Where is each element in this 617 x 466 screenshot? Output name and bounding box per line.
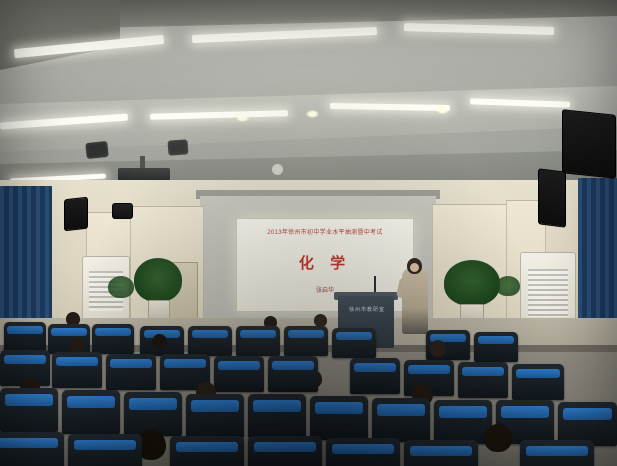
chair: [372, 398, 430, 442]
chair: [170, 436, 244, 466]
chair: [310, 396, 368, 440]
ac-grill: [528, 269, 568, 317]
chair: [458, 362, 508, 398]
ceiling-dome-light-icon: [272, 164, 283, 175]
downlight-icon: [306, 110, 319, 118]
speaker-icon: [85, 141, 109, 159]
speaker-icon: [112, 203, 133, 219]
chair: [512, 364, 564, 400]
presenter: [402, 268, 428, 334]
chair: [268, 356, 318, 392]
chair: [186, 394, 244, 438]
chair: [68, 434, 142, 466]
slide-subtitle: 张启华: [316, 285, 334, 294]
chair: [106, 354, 156, 390]
presenter-face: [410, 263, 419, 272]
chair: [0, 388, 58, 432]
potted-plant: [134, 258, 182, 302]
chair: [520, 440, 594, 466]
chair: [214, 356, 264, 392]
window-curtain: [578, 178, 617, 328]
chair: [92, 324, 134, 354]
chair: [236, 326, 280, 356]
chair: [62, 390, 120, 434]
chair: [350, 358, 400, 394]
audience-head: [430, 340, 446, 357]
chair: [248, 394, 306, 438]
chair: [284, 326, 328, 356]
speaker-icon: [538, 168, 566, 227]
speaker-icon: [562, 109, 616, 179]
window-curtain: [0, 186, 52, 326]
chair: [0, 432, 64, 466]
potted-plant: [496, 276, 520, 296]
chair: [52, 352, 102, 388]
lectern-label: 徐州市教研室: [344, 306, 390, 316]
chair: [248, 436, 322, 466]
downlight-icon: [236, 114, 249, 122]
potted-plant: [444, 260, 500, 306]
photo-scene: 2013年徐州市初中学业水平抽测暨中考试 化 学 张启华 徐州市教研室: [0, 0, 617, 466]
chair: [188, 326, 232, 356]
audience-head: [484, 424, 512, 452]
speaker-icon: [64, 197, 88, 232]
chair: [332, 328, 376, 358]
slide-header-text: 2013年徐州市初中学业水平抽测暨中考试: [267, 227, 382, 236]
chair: [474, 332, 518, 362]
slide-title: 化 学: [299, 252, 351, 273]
downlight-icon: [436, 106, 449, 114]
chair: [4, 322, 46, 352]
speaker-icon: [168, 139, 189, 155]
potted-plant: [108, 276, 134, 298]
audience-head: [152, 334, 167, 349]
chair: [326, 438, 400, 466]
chair: [404, 440, 478, 466]
